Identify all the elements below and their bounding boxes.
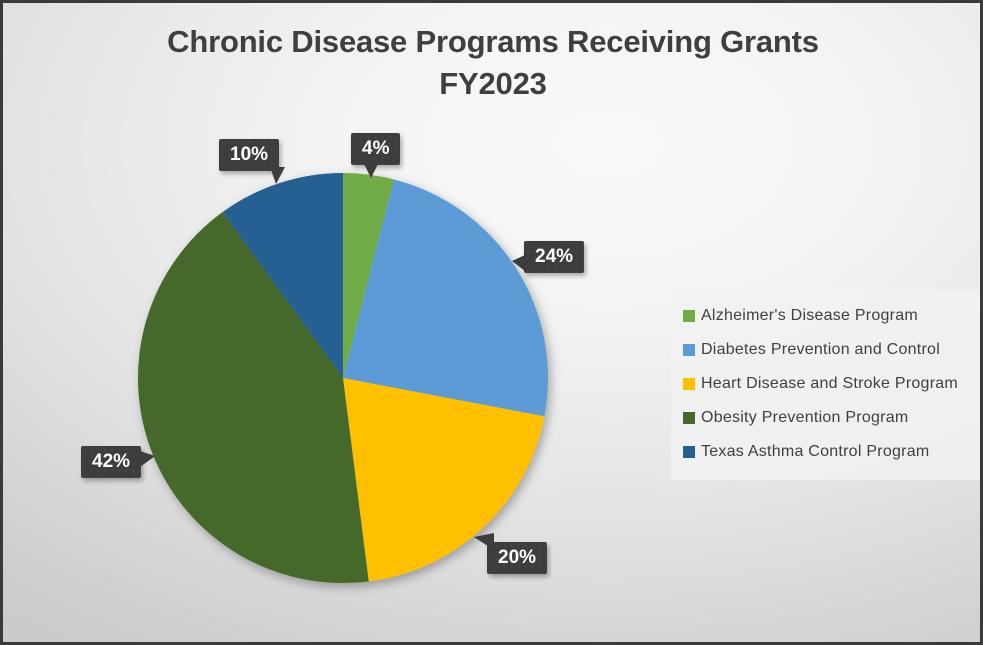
chart-title-line-1: Chronic Disease Programs Receiving Grant…	[167, 24, 819, 59]
callout-tail-icon	[512, 255, 525, 271]
chart-title: Chronic Disease Programs Receiving Grant…	[63, 21, 923, 105]
data-label-value: 20%	[498, 547, 536, 568]
slide-canvas: Chronic Disease Programs Receiving Grant…	[0, 0, 983, 645]
legend-item-1[interactable]: Diabetes Prevention and Control	[677, 333, 977, 367]
callout-tail-icon	[270, 167, 285, 184]
data-label-heart-disease-and-stroke-program[interactable]: 20%	[487, 542, 547, 574]
legend-swatch-icon	[683, 310, 695, 322]
legend-item-label: Heart Disease and Stroke Program	[701, 375, 958, 393]
legend-swatch-icon	[683, 446, 695, 458]
data-label-value: 42%	[92, 451, 130, 472]
legend-swatch-icon	[683, 344, 695, 356]
legend-item-4[interactable]: Texas Asthma Control Program	[677, 435, 977, 469]
legend-item-0[interactable]: Alzheimer's Disease Program	[677, 299, 977, 333]
pie-slice-group	[138, 173, 548, 583]
legend-item-label: Alzheimer's Disease Program	[701, 307, 918, 325]
legend-item-3[interactable]: Obesity Prevention Program	[677, 401, 977, 435]
data-label-value: 24%	[535, 246, 573, 267]
data-label-value: 10%	[230, 144, 268, 165]
legend-swatch-icon	[683, 378, 695, 390]
legend-item-label: Obesity Prevention Program	[701, 409, 908, 427]
callout-tail-icon	[364, 164, 378, 178]
data-label-obesity-prevention-program[interactable]: 42%	[81, 446, 141, 478]
data-label-diabetes-prevention-and-control[interactable]: 24%	[524, 241, 584, 273]
chart-legend[interactable]: Alzheimer's Disease ProgramDiabetes Prev…	[671, 290, 983, 480]
legend-item-2[interactable]: Heart Disease and Stroke Program	[677, 367, 977, 401]
callout-tail-icon	[474, 533, 494, 550]
data-label-texas-asthma-control-program[interactable]: 10%	[219, 139, 279, 171]
pie-chart-svg	[123, 158, 563, 598]
legend-item-label: Texas Asthma Control Program	[701, 443, 929, 461]
callout-tail-icon	[140, 451, 155, 467]
data-label-alzheimers-disease-program[interactable]: 4%	[351, 133, 400, 165]
legend-item-label: Diabetes Prevention and Control	[701, 341, 940, 359]
chart-title-line-2: FY2023	[63, 63, 923, 105]
legend-swatch-icon	[683, 412, 695, 424]
data-label-value: 4%	[362, 138, 389, 159]
pie-chart[interactable]	[123, 158, 563, 598]
